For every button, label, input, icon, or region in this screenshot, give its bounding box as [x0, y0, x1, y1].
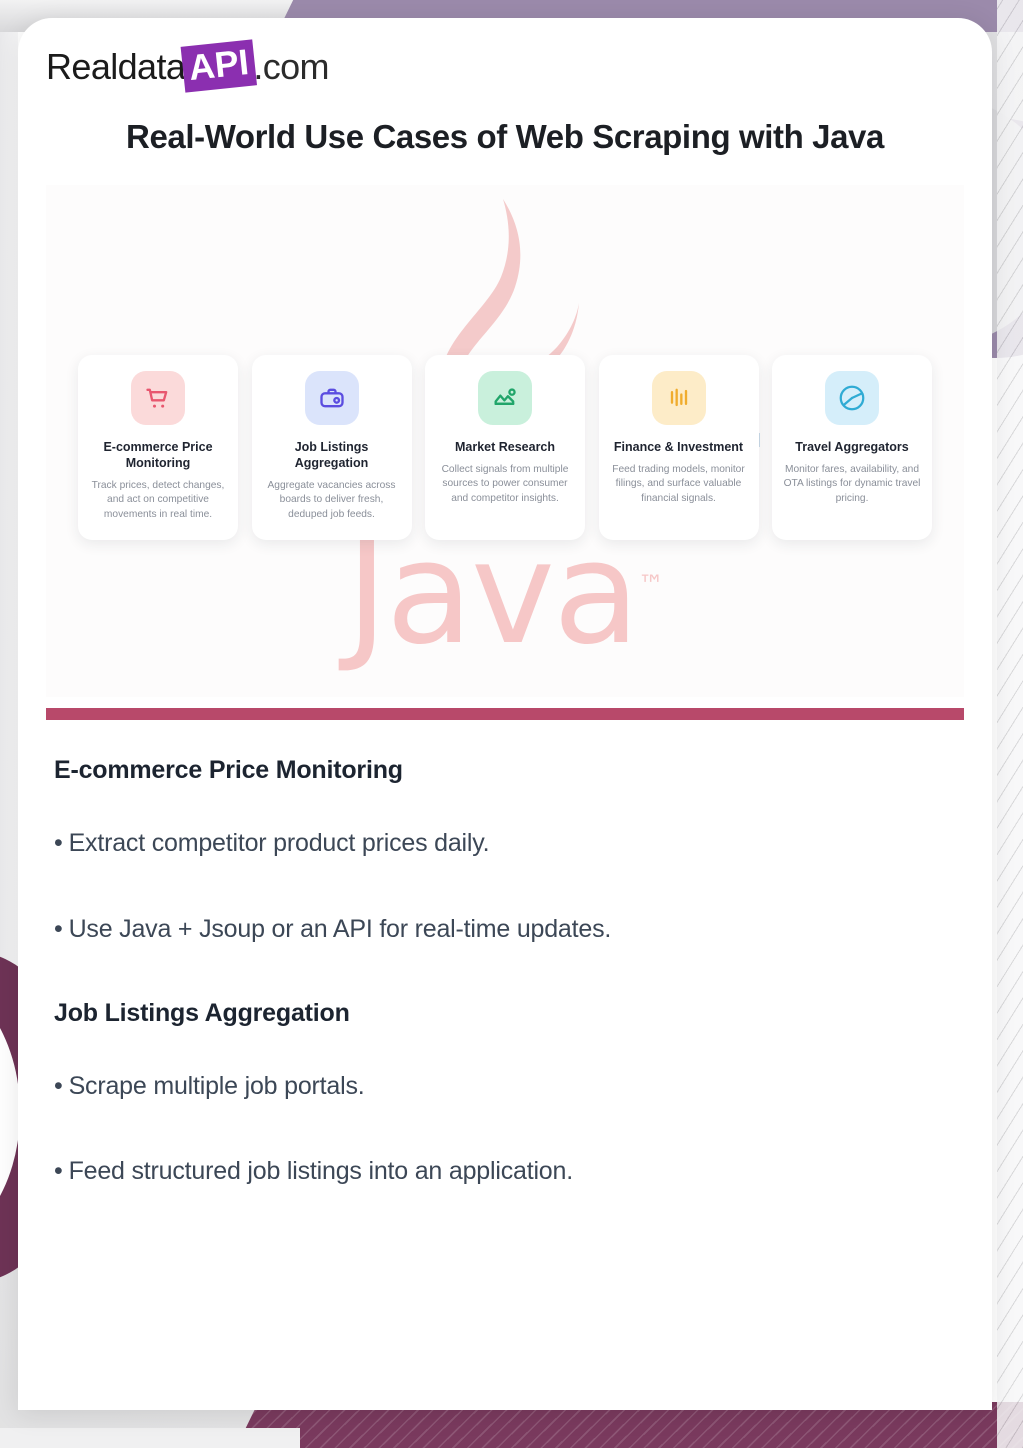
- bullet-glyph: •: [54, 915, 63, 943]
- use-case-card[interactable]: E-commerce Price Monitoring Track prices…: [78, 355, 238, 540]
- right-edge-hatch-decoration: [997, 0, 1023, 1448]
- bullet-glyph: •: [54, 1072, 63, 1100]
- trademark-symbol: ™: [638, 571, 664, 601]
- section-heading-2: Job Listings Aggregation: [54, 999, 956, 1028]
- chart-image-icon: [478, 371, 532, 425]
- candlestick-chart-icon: [652, 371, 706, 425]
- use-case-card-title: Finance & Investment: [609, 439, 749, 455]
- bullet-item: •Scrape multiple job portals.: [54, 1070, 956, 1104]
- use-case-card[interactable]: Job Listings Aggregation Aggregate vacan…: [252, 355, 412, 540]
- section-divider: [46, 708, 964, 720]
- bottom-left-light-strip: [0, 1428, 300, 1448]
- use-case-card-description: Feed trading models, monitor filings, an…: [609, 463, 749, 506]
- use-case-card[interactable]: Finance & Investment Feed trading models…: [599, 355, 759, 540]
- pie-chart-icon: [825, 371, 879, 425]
- poster-card: RealdataAPI.com Real-World Use Cases of …: [18, 18, 992, 1410]
- section-heading-1: E-commerce Price Monitoring: [54, 756, 956, 785]
- use-case-card-description: Aggregate vacancies across boards to del…: [262, 479, 402, 522]
- content-body: E-commerce Price Monitoring •Extract com…: [54, 756, 956, 1189]
- logo-api-badge: API: [181, 39, 257, 92]
- bullet-glyph: •: [54, 1157, 63, 1185]
- page-title: Real-World Use Cases of Web Scraping wit…: [18, 118, 992, 156]
- use-case-card[interactable]: Travel Aggregators Monitor fares, availa…: [772, 355, 932, 540]
- bullet-item: •Extract competitor product prices daily…: [54, 827, 956, 861]
- use-case-card-description: Track prices, detect changes, and act on…: [88, 479, 228, 522]
- bullet-glyph: •: [54, 829, 63, 857]
- hero-illustration: Java™ E-commerce Price Monitoring Track …: [46, 185, 964, 697]
- use-case-card-title: Job Listings Aggregation: [262, 439, 402, 471]
- logo-suffix: .com: [253, 46, 329, 87]
- bullet-text: Use Java + Jsoup or an API for real-time…: [69, 915, 612, 943]
- brand-logo[interactable]: RealdataAPI.com: [46, 45, 329, 91]
- bullet-text: Extract competitor product prices daily.: [69, 829, 490, 857]
- use-case-card-description: Monitor fares, availability, and OTA lis…: [782, 463, 922, 506]
- bullet-text: Scrape multiple job portals.: [69, 1072, 365, 1100]
- use-case-card-title: Market Research: [435, 439, 575, 455]
- use-case-card-description: Collect signals from multiple sources to…: [435, 463, 575, 506]
- bullet-text: Feed structured job listings into an app…: [69, 1157, 573, 1185]
- use-case-card-strip: E-commerce Price Monitoring Track prices…: [78, 355, 932, 540]
- use-case-card[interactable]: Market Research Collect signals from mul…: [425, 355, 585, 540]
- java-wordmark: Java™: [295, 523, 715, 665]
- shopping-cart-icon: [131, 371, 185, 425]
- use-case-card-title: Travel Aggregators: [782, 439, 922, 455]
- briefcase-icon: [305, 371, 359, 425]
- bullet-item: •Use Java + Jsoup or an API for real-tim…: [54, 913, 956, 947]
- bullet-item: •Feed structured job listings into an ap…: [54, 1155, 956, 1189]
- use-case-card-title: E-commerce Price Monitoring: [88, 439, 228, 471]
- logo-prefix: Realdata: [46, 46, 185, 87]
